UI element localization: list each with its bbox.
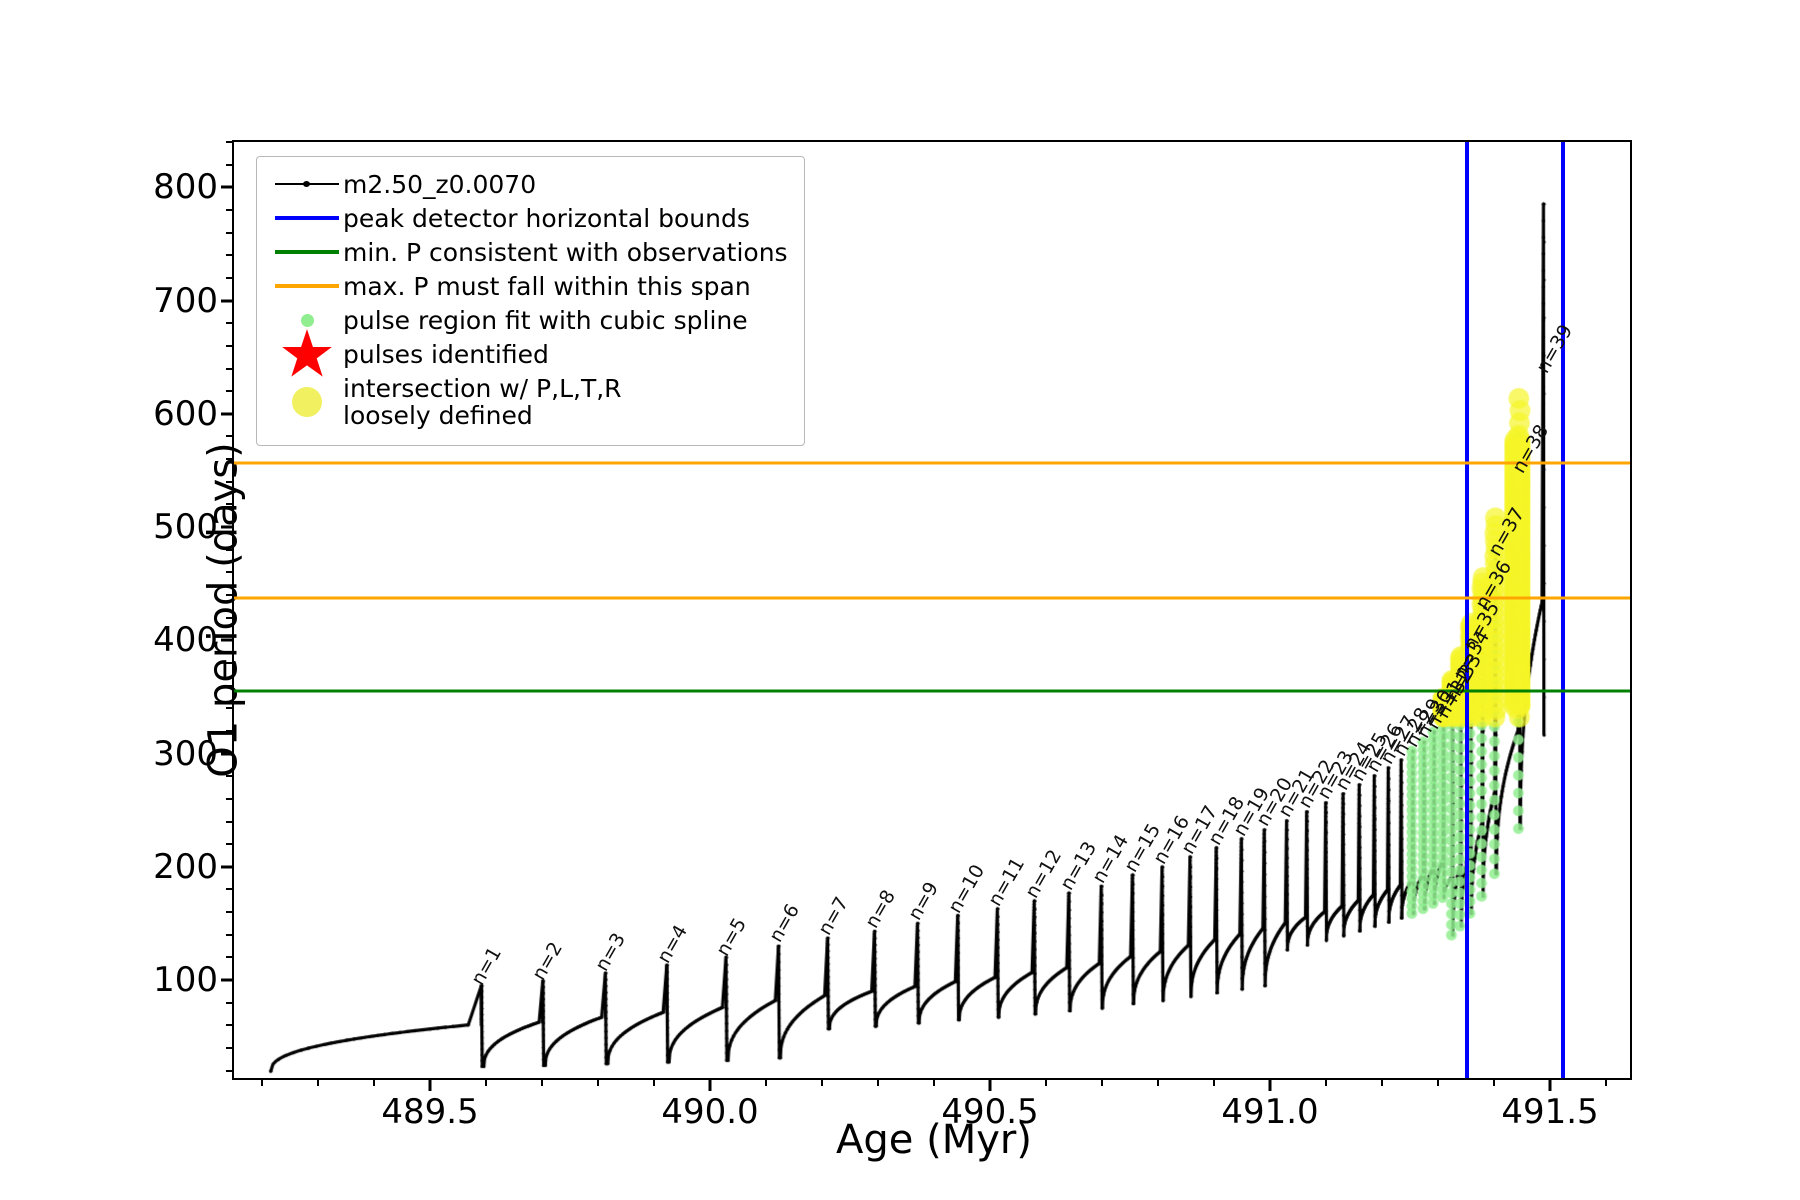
- legend-item: peak detector horizontal bounds: [271, 201, 788, 235]
- y-tick-minor: [226, 571, 234, 573]
- y-tick-minor: [226, 888, 234, 890]
- legend-line-icon: [275, 216, 339, 220]
- legend-item: max. P must fall within this span: [271, 269, 788, 303]
- x-tick-minor: [541, 1078, 543, 1086]
- plot-area: O1 period (days) Age (Myr) 1002003004005…: [232, 140, 1632, 1080]
- legend-item: intersection w/ P,L,T,Rloosely defined: [271, 371, 788, 433]
- y-tick-minor: [226, 141, 234, 143]
- y-tick-minor: [226, 435, 234, 437]
- y-tick-minor: [226, 232, 234, 234]
- legend-item-label: pulse region fit with cubic spline: [343, 307, 748, 334]
- y-tick-minor: [226, 775, 234, 777]
- y-tick-minor: [226, 685, 234, 687]
- y-axis-label: O1 period (days): [201, 442, 247, 777]
- x-tick-minor: [597, 1078, 599, 1086]
- legend-item: pulses identified: [271, 337, 788, 371]
- legend: m2.50_z0.0070peak detector horizontal bo…: [256, 156, 805, 446]
- y-tick-minor: [226, 821, 234, 823]
- y-tick-major: [221, 412, 234, 415]
- y-tick-major: [221, 865, 234, 868]
- x-tick-minor: [877, 1078, 879, 1086]
- y-tick-minor: [226, 322, 234, 324]
- x-tick-minor: [1213, 1078, 1215, 1086]
- y-tick-label: 400: [153, 620, 218, 660]
- y-tick-major: [221, 979, 234, 982]
- legend-item: pulse region fit with cubic spline: [271, 303, 788, 337]
- y-tick-minor: [226, 911, 234, 913]
- reference-line: [1561, 142, 1565, 1078]
- reference-line: [234, 690, 1630, 693]
- star-icon: [280, 327, 334, 381]
- legend-item-label: peak detector horizontal bounds: [343, 205, 750, 232]
- x-tick-minor: [765, 1078, 767, 1086]
- y-tick-minor: [226, 594, 234, 596]
- x-tick-minor: [1381, 1078, 1383, 1086]
- x-tick-label: 489.5: [381, 1092, 478, 1132]
- y-tick-minor: [226, 458, 234, 460]
- x-tick-minor: [1101, 1078, 1103, 1086]
- y-tick-major: [221, 186, 234, 189]
- legend-key-line-marker: [271, 169, 343, 199]
- legend-item-label: intersection w/ P,L,T,Rloosely defined: [343, 375, 622, 429]
- y-tick-minor: [226, 1047, 234, 1049]
- y-tick-label: 600: [153, 394, 218, 434]
- x-tick-major: [1269, 1078, 1272, 1091]
- legend-item-label: max. P must fall within this span: [343, 273, 751, 300]
- y-tick-minor: [226, 1070, 234, 1072]
- y-tick-label: 300: [153, 734, 218, 774]
- y-tick-label: 100: [153, 960, 218, 1000]
- y-tick-minor: [226, 798, 234, 800]
- y-tick-minor: [226, 549, 234, 551]
- y-tick-minor: [226, 843, 234, 845]
- x-tick-minor: [821, 1078, 823, 1086]
- legend-key-line: [271, 237, 343, 267]
- x-tick-major: [709, 1078, 712, 1091]
- x-tick-minor: [1325, 1078, 1327, 1086]
- legend-key-line: [271, 271, 343, 301]
- reference-line: [234, 597, 1630, 600]
- y-tick-minor: [226, 503, 234, 505]
- y-tick-minor: [226, 730, 234, 732]
- y-tick-minor: [226, 481, 234, 483]
- x-tick-minor: [373, 1078, 375, 1086]
- y-tick-minor: [226, 1024, 234, 1026]
- x-tick-minor: [1157, 1078, 1159, 1086]
- y-tick-major: [221, 526, 234, 529]
- reference-line: [1465, 142, 1469, 1078]
- y-tick-label: 200: [153, 847, 218, 887]
- x-tick-minor: [1493, 1078, 1495, 1086]
- legend-line-icon: [275, 284, 339, 288]
- x-tick-minor: [485, 1078, 487, 1086]
- x-tick-minor: [1437, 1078, 1439, 1086]
- legend-item: min. P consistent with observations: [271, 235, 788, 269]
- legend-key-line: [271, 203, 343, 233]
- x-tick-label: 490.5: [941, 1092, 1038, 1132]
- y-tick-minor: [226, 1002, 234, 1004]
- x-tick-minor: [261, 1078, 263, 1086]
- y-tick-major: [221, 639, 234, 642]
- x-tick-major: [989, 1078, 992, 1091]
- legend-item-label: m2.50_z0.0070: [343, 171, 536, 198]
- legend-key-dot: [271, 387, 343, 417]
- legend-item-label: min. P consistent with observations: [343, 239, 788, 266]
- x-tick-label: 491.0: [1221, 1092, 1318, 1132]
- y-tick-minor: [226, 707, 234, 709]
- figure: O1 period (days) Age (Myr) 1002003004005…: [0, 0, 1800, 1200]
- y-tick-minor: [226, 662, 234, 664]
- x-tick-minor: [317, 1078, 319, 1086]
- legend-dot-icon: [301, 314, 314, 327]
- legend-key-star: [271, 339, 343, 369]
- y-tick-major: [221, 299, 234, 302]
- y-tick-label: 500: [153, 507, 218, 547]
- legend-line-icon: [275, 250, 339, 254]
- reference-line: [234, 461, 1630, 464]
- y-tick-minor: [226, 368, 234, 370]
- y-tick-minor: [226, 164, 234, 166]
- x-tick-minor: [1045, 1078, 1047, 1086]
- legend-item: m2.50_z0.0070: [271, 167, 788, 201]
- y-tick-minor: [226, 934, 234, 936]
- x-tick-minor: [933, 1078, 935, 1086]
- y-tick-minor: [226, 390, 234, 392]
- y-tick-minor: [226, 345, 234, 347]
- legend-item-label: pulses identified: [343, 341, 549, 368]
- y-tick-minor: [226, 254, 234, 256]
- legend-dot-icon: [292, 387, 322, 417]
- y-tick-label: 700: [153, 281, 218, 321]
- y-tick-major: [221, 752, 234, 755]
- x-tick-major: [429, 1078, 432, 1091]
- y-tick-label: 800: [153, 167, 218, 207]
- x-tick-label: 490.0: [661, 1092, 758, 1132]
- y-tick-minor: [226, 617, 234, 619]
- x-tick-minor: [1605, 1078, 1607, 1086]
- y-tick-minor: [226, 277, 234, 279]
- x-tick-major: [1549, 1078, 1552, 1091]
- x-tick-minor: [653, 1078, 655, 1086]
- y-tick-minor: [226, 209, 234, 211]
- legend-line-marker-icon: [275, 183, 339, 185]
- y-tick-minor: [226, 956, 234, 958]
- x-tick-label: 491.5: [1501, 1092, 1598, 1132]
